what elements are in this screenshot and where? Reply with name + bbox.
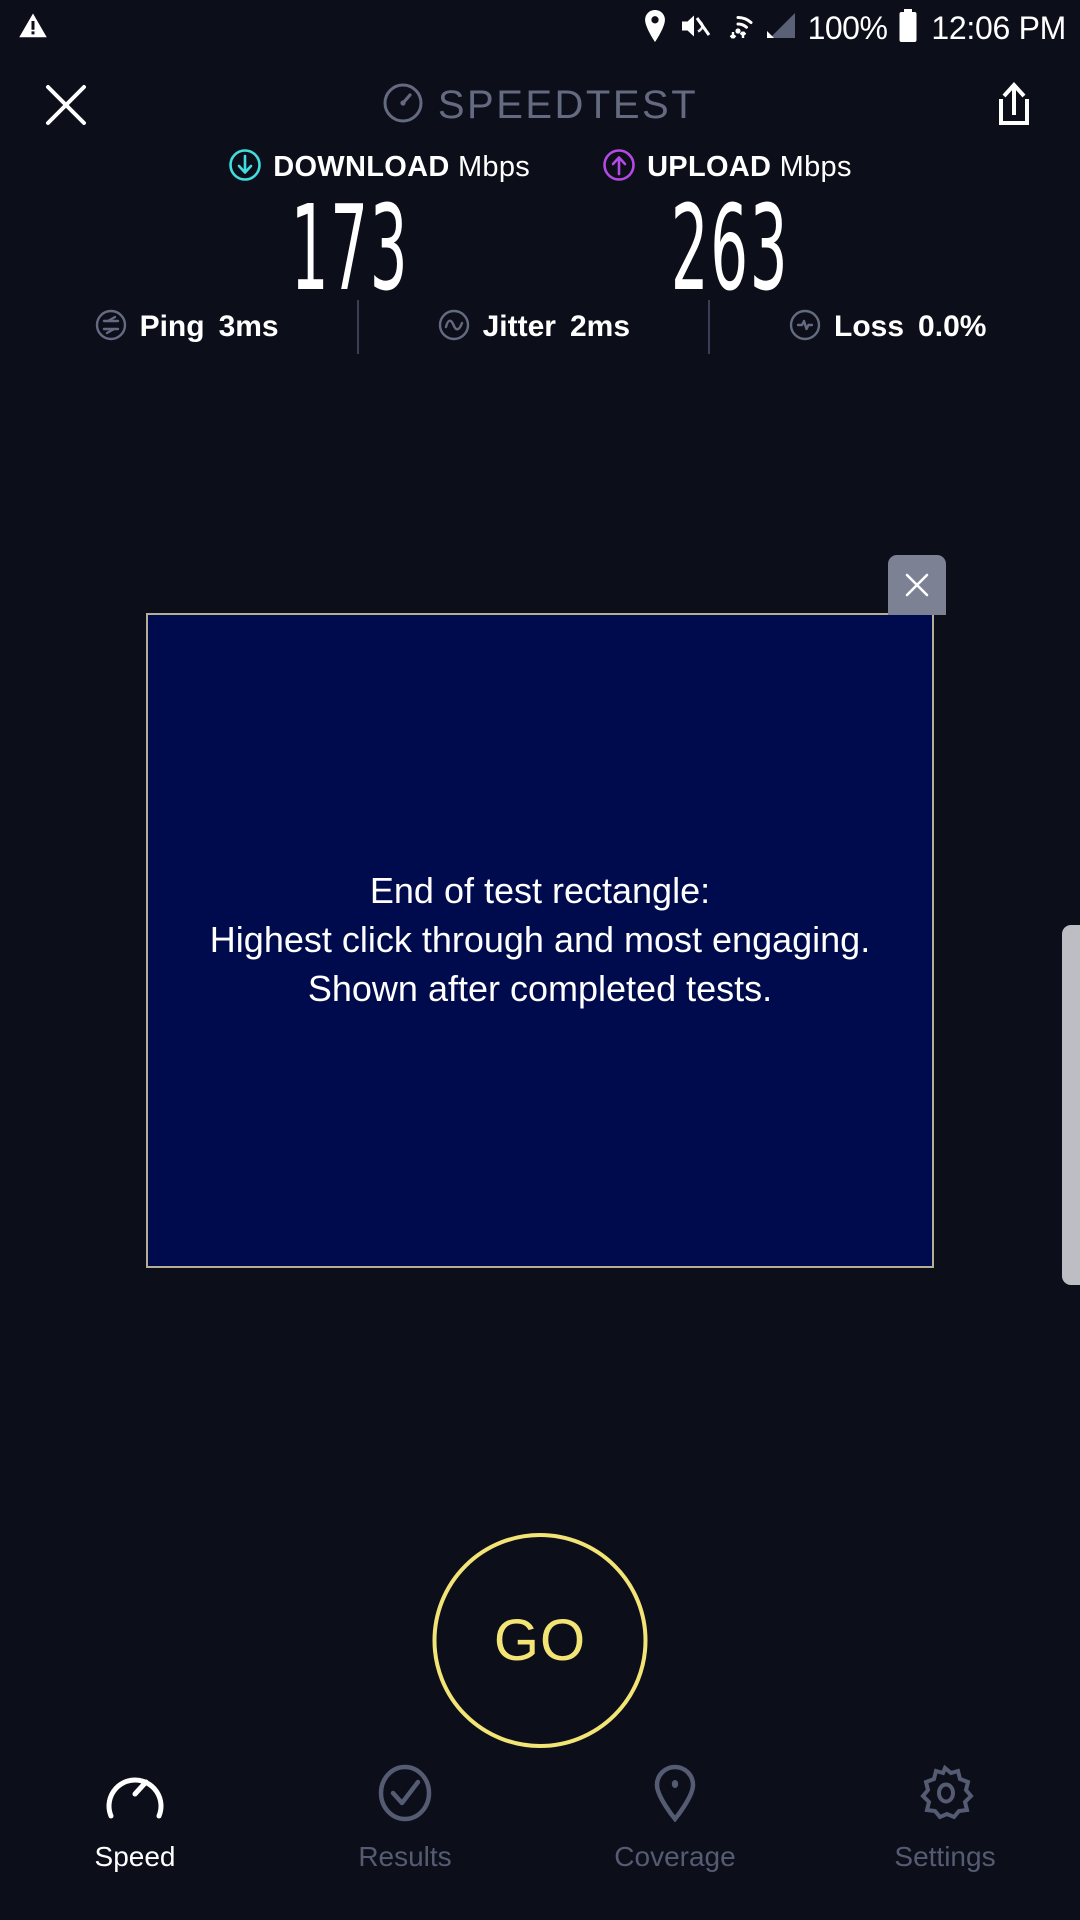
nav-label-speed: Speed: [95, 1841, 176, 1873]
download-value-wrap: 173: [160, 189, 540, 307]
metric-ping: Ping 3ms: [64, 308, 309, 347]
share-icon: [993, 81, 1035, 129]
metric-loss: Loss 0.0%: [758, 308, 1016, 347]
cellular-signal-icon: [765, 11, 797, 46]
check-circle-icon: [375, 1764, 435, 1827]
metric-divider: [357, 300, 359, 354]
advertisement-text: End of test rectangle: Highest click thr…: [198, 867, 882, 1014]
gear-icon: [915, 1764, 975, 1827]
metric-loss-value: 0.0%: [918, 310, 986, 344]
metric-loss-label: Loss: [834, 310, 904, 344]
nav-label-coverage: Coverage: [614, 1841, 735, 1873]
status-bar-clock: 12:06 PM: [931, 12, 1066, 44]
jitter-icon: [437, 308, 471, 347]
speedometer-icon: [382, 82, 424, 129]
nav-item-speed[interactable]: Speed: [0, 1764, 270, 1873]
wifi-icon: [722, 10, 754, 47]
go-button-label: GO: [494, 1607, 586, 1674]
status-bar-left: [18, 11, 48, 46]
status-bar-right: 100% 12:06 PM: [642, 9, 1066, 48]
advertisement-banner[interactable]: End of test rectangle: Highest click thr…: [146, 613, 934, 1268]
nav-item-settings[interactable]: Settings: [810, 1764, 1080, 1873]
metric-ping-label: Ping: [140, 310, 205, 344]
ping-icon: [94, 308, 128, 347]
close-icon: [902, 570, 932, 600]
advertisement-container: End of test rectangle: Highest click thr…: [146, 613, 934, 1268]
loss-icon: [788, 308, 822, 347]
metric-jitter: Jitter 2ms: [407, 308, 660, 347]
battery-full-icon: [898, 9, 918, 48]
close-icon: [43, 82, 89, 128]
metrics-row: Ping 3ms Jitter 2ms Loss 0.0%: [0, 300, 1080, 354]
metric-jitter-label: Jitter: [483, 310, 556, 344]
arrow-down-circle-icon: [228, 148, 262, 187]
go-button[interactable]: GO: [433, 1533, 648, 1748]
arrow-up-circle-icon: [602, 148, 636, 187]
nav-label-results: Results: [358, 1841, 451, 1873]
nav-label-settings: Settings: [894, 1841, 995, 1873]
nav-item-coverage[interactable]: Coverage: [540, 1764, 810, 1873]
metric-divider: [708, 300, 710, 354]
download-value: 173: [249, 189, 451, 307]
app-brand: SPEEDTEST: [0, 60, 1080, 150]
warning-triangle-icon: [18, 11, 48, 46]
upload-value: 263: [629, 189, 831, 307]
ad-close-button[interactable]: [888, 555, 946, 615]
share-button[interactable]: [978, 69, 1050, 141]
app-brand-title: SPEEDTEST: [438, 83, 698, 128]
map-pin-icon: [645, 1764, 705, 1827]
speedometer-icon: [105, 1764, 165, 1827]
metric-ping-value: 3ms: [219, 310, 279, 344]
volume-muted-icon: [679, 11, 711, 46]
bottom-navigation: Speed Results Coverage Settings: [0, 1750, 1080, 1920]
nav-item-results[interactable]: Results: [270, 1764, 540, 1873]
metric-jitter-value: 2ms: [570, 310, 630, 344]
location-pin-icon: [642, 10, 668, 47]
upload-value-wrap: 263: [540, 189, 920, 307]
vertical-scrollbar[interactable]: [1062, 925, 1080, 1285]
speed-values-row: 173 263: [0, 189, 1080, 307]
speed-labels-row: DOWNLOAD Mbps UPLOAD Mbps: [0, 148, 1080, 187]
close-app-button[interactable]: [30, 69, 102, 141]
app-header: SPEEDTEST: [0, 60, 1080, 150]
status-bar: 100% 12:06 PM: [0, 0, 1080, 56]
battery-percent-label: 100%: [808, 12, 888, 44]
speed-results: DOWNLOAD Mbps UPLOAD Mbps 173 263: [0, 148, 1080, 307]
